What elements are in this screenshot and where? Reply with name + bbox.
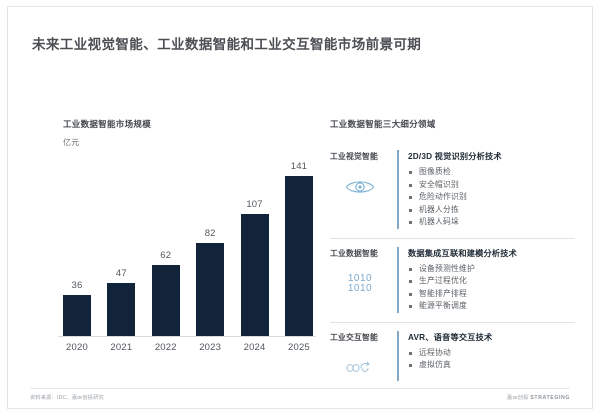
segment-label: 工业交互智能 xyxy=(330,332,397,343)
bar-item: 47 xyxy=(107,154,135,336)
bar-rect xyxy=(63,295,91,336)
bar-value-label: 82 xyxy=(205,228,216,239)
binary-line-1: 1010 xyxy=(348,274,372,284)
frame-right-border xyxy=(592,6,593,409)
segment-bullet-list: 远程协动虚拟仿真 xyxy=(408,347,575,372)
brand-prefix: 嘉œ创投 xyxy=(507,395,529,401)
segment-label: 工业数据智能 xyxy=(330,248,397,259)
chart-x-axis xyxy=(58,336,316,337)
chart-x-tick-labels: 202020212022202320242025 xyxy=(63,342,313,353)
x-tick-label: 2025 xyxy=(285,342,313,353)
bar-rect xyxy=(152,265,180,336)
bar-value-label: 36 xyxy=(72,280,83,291)
bullet-item: 安全帽识别 xyxy=(408,179,575,192)
bar-rect xyxy=(196,243,224,336)
segment-industrial-data[interactable]: 工业数据智能 1010 1010 数据集成互联和建模分析技术 设备预测性维护生产… xyxy=(330,247,575,320)
bullet-item: 生产过程优化 xyxy=(408,275,575,288)
infinity-loop-icon xyxy=(330,355,390,381)
segment-divider xyxy=(330,238,575,239)
bullet-item: 机器人码垛 xyxy=(408,216,575,229)
bullet-item: 设备预测性维护 xyxy=(408,263,575,276)
footer-divider xyxy=(30,388,570,389)
bar-item: 141 xyxy=(285,154,313,336)
slide-canvas: 未来工业视觉智能、工业数据智能和工业交互智能市场前景可期 工业数据智能市场规模 … xyxy=(0,0,600,415)
brand-mark: 嘉œ创投 STRATEGING xyxy=(507,394,570,401)
bar-rect xyxy=(107,283,135,336)
segment-left-column: 工业视觉智能 xyxy=(330,150,397,200)
segment-bullet-list: 设备预测性维护生产过程优化智能排产排程能源平衡调度 xyxy=(408,263,575,313)
bullet-item: 远程协动 xyxy=(408,347,575,360)
bar-item: 107 xyxy=(241,154,269,336)
segment-content: 数据集成互联和建模分析技术 设备预测性维护生产过程优化智能排产排程能源平衡调度 xyxy=(408,247,575,313)
bullet-item: 图像质检 xyxy=(408,166,575,179)
x-tick-label: 2022 xyxy=(152,342,180,353)
segment-accent-bar xyxy=(397,247,399,313)
bar-item: 62 xyxy=(152,154,180,336)
chart-unit-label: 亿元 xyxy=(63,137,80,148)
page-title: 未来工业视觉智能、工业数据智能和工业交互智能市场前景可期 xyxy=(32,33,421,53)
segment-left-column: 工业数据智能 1010 1010 xyxy=(330,247,397,297)
bullet-item: 能源平衡调度 xyxy=(408,300,575,313)
bar-series: 36476282107141 xyxy=(63,154,313,336)
binary-line-2: 1010 xyxy=(348,284,372,294)
market-size-chart: 工业数据智能市场规模 亿元 36476282107141 20202021202… xyxy=(30,118,320,363)
segment-label: 工业视觉智能 xyxy=(330,151,397,162)
bar-rect xyxy=(285,176,313,336)
segment-heading: AVR、语音等交互技术 xyxy=(408,331,575,343)
bar-value-label: 141 xyxy=(291,161,307,172)
segment-industrial-interaction[interactable]: 工业交互智能 AVR、语音等交互技术 远程协动虚拟仿真 xyxy=(330,331,575,388)
x-tick-label: 2020 xyxy=(63,342,91,353)
segment-accent-bar xyxy=(397,150,399,229)
bar-item: 82 xyxy=(196,154,224,336)
bar-rect xyxy=(241,214,269,336)
frame-bottom-border xyxy=(7,408,593,409)
segment-heading: 数据集成互联和建模分析技术 xyxy=(408,247,575,259)
segment-content: AVR、语音等交互技术 远程协动虚拟仿真 xyxy=(408,331,575,372)
bar-item: 36 xyxy=(63,154,91,336)
segment-heading: 2D/3D 视觉识别分析技术 xyxy=(408,150,575,162)
segments-panel: 工业数据智能三大细分领域 工业视觉智能 2D/3D 视觉识别分析技术 图像质检安… xyxy=(330,118,575,388)
segment-bullet-list: 图像质检安全帽识别危险动作识别机器人分拣机器人码垛 xyxy=(408,166,575,229)
bar-value-label: 62 xyxy=(160,250,171,261)
bullet-item: 危险动作识别 xyxy=(408,191,575,204)
bar-value-label: 47 xyxy=(116,268,127,279)
segment-left-column: 工业交互智能 xyxy=(330,331,397,381)
bullet-item: 机器人分拣 xyxy=(408,204,575,217)
bullet-item: 虚拟仿真 xyxy=(408,359,575,372)
segment-content: 2D/3D 视觉识别分析技术 图像质检安全帽识别危险动作识别机器人分拣机器人码垛 xyxy=(408,150,575,229)
segments-panel-title: 工业数据智能三大细分领域 xyxy=(330,118,575,130)
frame-left-border xyxy=(7,6,8,409)
x-tick-label: 2023 xyxy=(196,342,224,353)
bar-value-label: 107 xyxy=(246,199,262,210)
bullet-item: 智能排产排程 xyxy=(408,288,575,301)
chart-title: 工业数据智能市场规模 xyxy=(63,118,151,130)
brand-name: STRATEGING xyxy=(530,395,570,401)
eye-icon xyxy=(330,174,390,200)
frame-top-border xyxy=(7,6,593,7)
binary-data-icon: 1010 1010 xyxy=(330,271,390,297)
x-tick-label: 2024 xyxy=(241,342,269,353)
segment-industrial-vision[interactable]: 工业视觉智能 2D/3D 视觉识别分析技术 图像质检安全帽识别危险动作识别机器人… xyxy=(330,150,575,236)
chart-plot-area: 36476282107141 xyxy=(63,154,313,336)
source-note: 资料来源：IDC、嘉œ创投研究 xyxy=(30,394,104,401)
segment-accent-bar xyxy=(397,331,399,381)
x-tick-label: 2021 xyxy=(107,342,135,353)
segment-divider xyxy=(330,322,575,323)
